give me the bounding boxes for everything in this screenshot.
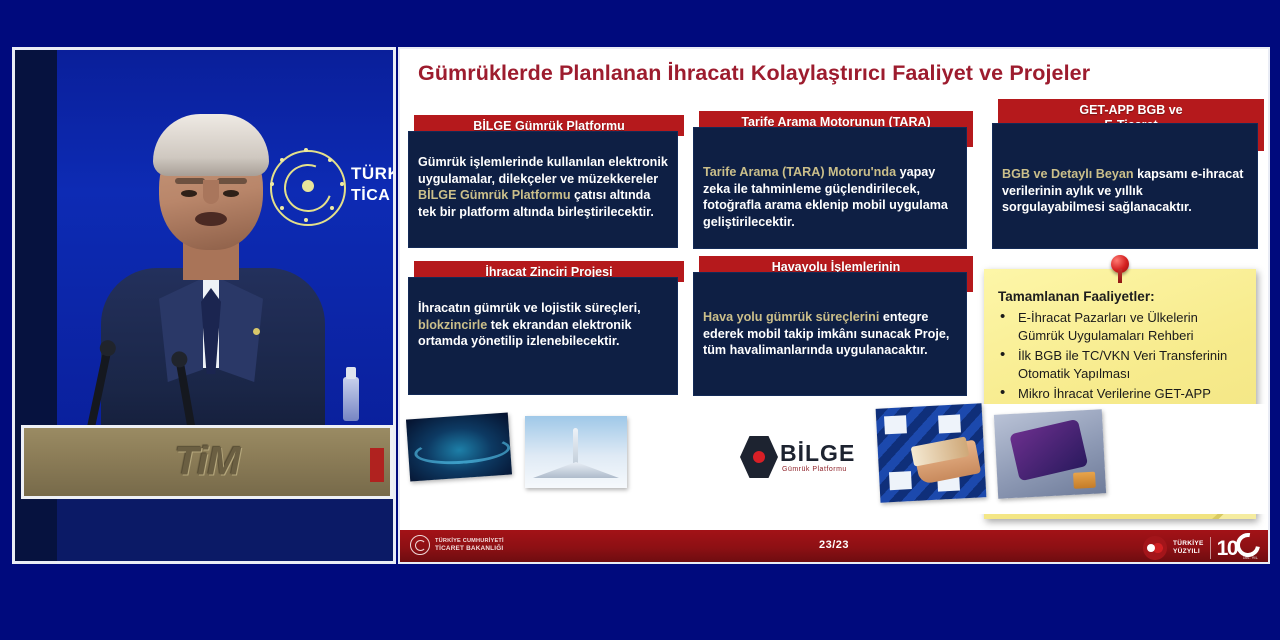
podium-logo-text: TiM <box>174 440 239 485</box>
century-line-1: TÜRKİYE <box>1173 540 1204 548</box>
turkiye-yuzyili-text: TÜRKİYE YÜZYILI <box>1173 540 1204 556</box>
card-text-highlight: BGB ve Detaylı Beyan <box>1002 167 1137 181</box>
speaker-lapel-pin <box>253 328 260 335</box>
card-text-highlight: Tarife Arama (TARA) Motoru'nda <box>703 165 900 179</box>
podium-badge-icon <box>370 448 384 482</box>
speaker-figure <box>107 92 317 462</box>
card-tara-yapay-zeka: Tarife Arama Motorunun (TARA) Yapay Zeka… <box>693 111 973 249</box>
turkiye-yuzyili-icon <box>1143 536 1167 560</box>
ministry-line-1: TÜRKİYE CUMHURİYETİ <box>435 538 504 544</box>
bilge-hex-icon <box>740 436 778 478</box>
slide-title: Gümrüklerde Planlanan İhracatı Kolaylaşt… <box>418 61 1258 86</box>
card-text-highlight: BİLGE Gümrük Platformu <box>418 188 571 202</box>
backdrop-line-1: TÜRK <box>351 164 393 183</box>
speaker-hair <box>153 114 269 176</box>
card-body: Gümrük işlemlerinde kullanılan elektroni… <box>408 131 678 248</box>
slide-footer: TÜRKİYE CUMHURİYETİ TİCARET BAKANLIĞI 23… <box>400 530 1268 562</box>
card-bilge-gumruk-platformu: BİLGE Gümrük Platformu Gümrük işlemlerin… <box>408 115 684 248</box>
card-body: Hava yolu gümrük süreçlerini entegre ede… <box>693 272 967 396</box>
bilge-wordmark: BİLGE <box>780 440 855 467</box>
photo-blockchain-hand <box>876 403 987 502</box>
logo-100-subtitle: 100. YIL <box>1243 556 1258 560</box>
logo-100-icon: 10 100. YIL <box>1217 533 1260 561</box>
footer-divider <box>1210 537 1211 559</box>
slide-page-number: 23/23 <box>819 539 849 551</box>
photo-mobile-ecommerce <box>994 409 1106 499</box>
backdrop-line-2: TİCA <box>351 185 393 207</box>
card-text-pre: İhracatın gümrük ve lojistik süreçleri, <box>418 301 641 315</box>
list-item: E-İhracat Pazarları ve Ülkelerin Gümrük … <box>1014 309 1242 344</box>
speaker-nose <box>203 180 219 204</box>
speaker-brow-left <box>175 178 205 184</box>
bilge-logo: BİLGE Gümrük Platformu <box>740 406 862 502</box>
card-ihracat-zinciri-projesi: İhracat Zinciri Projesi İhracatın gümrük… <box>408 261 684 395</box>
sticky-note-title: Tamamlanan Faaliyetler: <box>998 289 1155 304</box>
video-frame: TÜRK TİCA <box>15 50 393 561</box>
card-text-highlight: Hava yolu gümrük süreçlerini <box>703 310 883 324</box>
parcel-box-graphic <box>1073 472 1096 489</box>
bilge-subtitle: Gümrük Platformu <box>782 466 847 473</box>
card-text-highlight: blokzincirle <box>418 318 487 332</box>
network-wave-graphic <box>413 434 511 467</box>
card-body: İhracatın gümrük ve lojistik süreçleri, … <box>408 277 678 395</box>
ministry-emblem-icon-small <box>410 535 430 555</box>
pushpin-icon <box>1111 255 1129 273</box>
card-havayolu-dijitallestirme: Havayolu İşlemlerinin Dijitalleştirilmes… <box>693 256 973 396</box>
list-item: İlk BGB ile TC/VKN Veri Transferinin Oto… <box>1014 347 1242 382</box>
speaker-eye-left <box>181 190 197 197</box>
blockchain-node-2 <box>938 414 961 433</box>
blockchain-node-1 <box>884 415 907 434</box>
backdrop-brand-text: TÜRK TİCA <box>351 163 393 207</box>
century-line-2: YÜZYILI <box>1173 548 1204 556</box>
image-strip: BİLGE Gümrük Platformu <box>400 404 1268 514</box>
card-text-pre: Gümrük işlemlerinde kullanılan elektroni… <box>418 155 668 186</box>
blockchain-node-3 <box>889 471 912 490</box>
photo-airplane <box>525 416 627 488</box>
footer-ministry-text: TÜRKİYE CUMHURİYETİ TİCARET BAKANLIĞI <box>435 538 504 552</box>
screenshot-stage: TÜRK TİCA <box>0 0 1280 640</box>
presentation-slide: Gümrüklerde Planlanan İhracatı Kolaylaşt… <box>398 47 1270 564</box>
footer-century-logos: TÜRKİYE YÜZYILI 10 100. YIL <box>1143 534 1260 562</box>
podium: TiM <box>21 425 393 499</box>
speaker-mouth <box>195 212 227 226</box>
video-panel: TÜRK TİCA <box>12 47 396 564</box>
card-getapp-bgb-eticaret: GET-APP BGB ve E-Ticaret Sorgulamaları B… <box>992 107 1264 249</box>
speaker-brow-right <box>217 178 247 184</box>
photo-data-network <box>406 413 512 482</box>
card-body: Tarife Arama (TARA) Motoru'nda yapay zek… <box>693 127 967 249</box>
logo-100-digits: 10 <box>1217 537 1237 560</box>
water-bottle <box>343 377 359 421</box>
ministry-line-2: TİCARET BAKANLIĞI <box>435 545 504 552</box>
card-body: BGB ve Detaylı Beyan kapsamı e-ihracat v… <box>992 123 1258 249</box>
card-header-line-1: GET-APP BGB ve <box>1004 103 1258 118</box>
footer-ministry-logo: TÜRKİYE CUMHURİYETİ TİCARET BAKANLIĞI <box>410 535 504 555</box>
airplane-wing-graphic <box>533 462 619 478</box>
speaker-eye-right <box>223 190 239 197</box>
